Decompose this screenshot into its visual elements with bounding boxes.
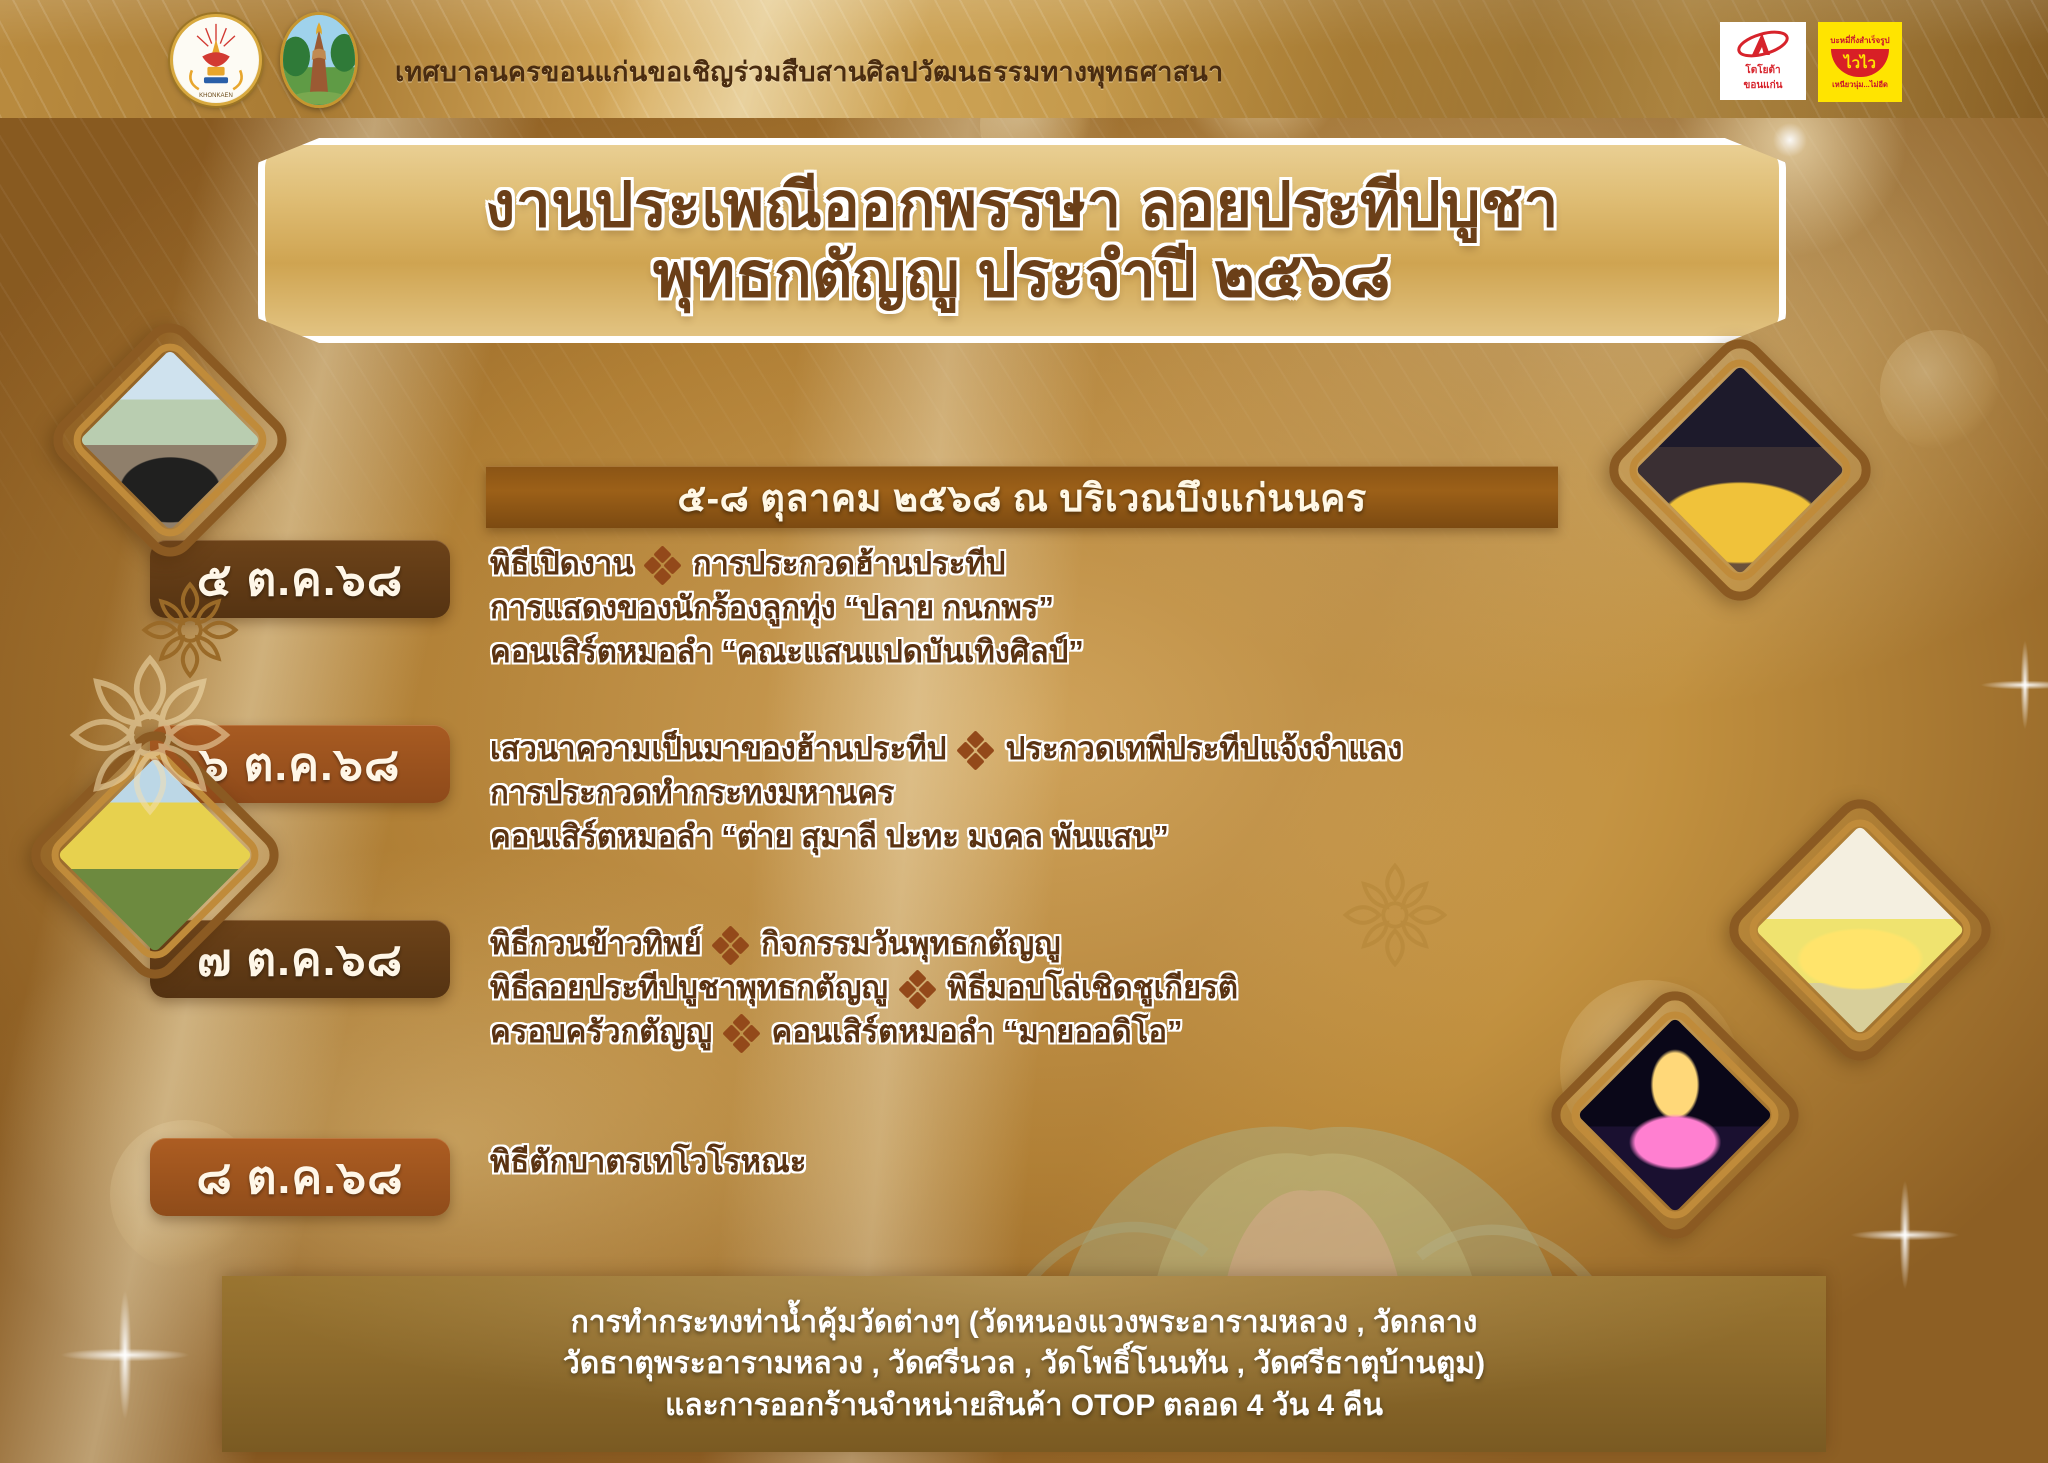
toyota-label-line2: ขอนแก่น: [1743, 78, 1782, 93]
photo-monk-parade: [60, 760, 250, 950]
event-line: ครอบครัวกตัญญู คอนเสิร์ตหมอลำ “มายออดิโอ…: [490, 1010, 1238, 1054]
event-line: พิธีลอยประทีปบูชาพุทธกตัญญู พิธีมอบโล่เช…: [490, 966, 1238, 1010]
event-text: คอนเสิร์ตหมอลำ “มายออดิโอ”: [771, 1014, 1182, 1049]
diamond-separator-icon: [955, 737, 997, 763]
waiwai-label-bottom: เหนียวนุ่ม...ไม่อืด: [1832, 79, 1888, 91]
bottom-info-banner: การทำกระทงท่าน้ำคุ้มวัดต่างๆ (วัดหนองแวง…: [222, 1276, 1826, 1452]
toyota-label-line1: โตโยต้า: [1745, 63, 1780, 78]
schedule-date-chip: ๘ ต.ค.๖๘: [150, 1138, 450, 1216]
event-text: พิธีกวนข้าวทิพย์: [490, 926, 702, 961]
event-text: การประกวดฮ้านประทีป: [693, 546, 1006, 581]
sponsor-logo-toyota: โตโยต้า ขอนแก่น: [1720, 22, 1806, 100]
diamond-separator-icon: [642, 552, 684, 578]
municipality-seal-icon: KHONKAEN: [170, 14, 262, 106]
schedule-events: เสวนาความเป็นมาของฮ้านประทีป ประกวดเทพีป…: [490, 725, 1402, 859]
bottom-banner-line1: การทำกระทงท่าน้ำคุ้มวัดต่างๆ (วัดหนองแวง…: [571, 1302, 1478, 1343]
diamond-separator-icon: [721, 1020, 763, 1046]
event-line: คอนเสิร์ตหมอลำ “คณะแสนแปดบันเทิงศิลป์”: [490, 630, 1084, 674]
event-line: การประกวดทำกระทงมหานคร: [490, 771, 1402, 815]
schedule-list: ๕ ต.ค.๖๘ พิธีเปิดงาน การประกวดฮ้านประทีป…: [150, 540, 1690, 1240]
province-seal-icon: [280, 12, 358, 108]
photo-lantern-float-display: [1760, 830, 1960, 1030]
event-text: ประกวดเทพีประทีปแจ้งจำแลง: [1006, 731, 1403, 766]
toyota-mark-icon: [1736, 29, 1790, 63]
sparkle: [1850, 1180, 1960, 1290]
schedule-row: ๖ ต.ค.๖๘ เสวนาความเป็นมาของฮ้านประทีป ปร…: [150, 725, 1402, 859]
festival-title-line1: งานประเพณีออกพรรษา ลอยประทีปบูชา: [265, 171, 1779, 240]
photo-lantern-stage-night: [1640, 370, 1840, 570]
date-location-text: ๕-๘ ตุลาคม ๒๕๖๘ ณ บริเวณบึงแก่นนคร: [677, 467, 1366, 528]
event-line: คอนเสิร์ตหมอลำ “ต่าย สุมาลี ปะทะ มงคล พั…: [490, 815, 1402, 859]
bottom-banner-line2: วัดธาตุพระอารามหลวง , วัดศรีนวล , วัดโพธ…: [563, 1343, 1485, 1384]
schedule-date-chip: ๕ ต.ค.๖๘: [150, 540, 450, 618]
bokeh-light: [1880, 330, 2000, 450]
event-line: พิธีตักบาตรเทโวโรหณะ: [490, 1140, 806, 1184]
event-text: ครอบครัวกตัญญู: [490, 1014, 712, 1049]
sparkle: [1980, 640, 2048, 730]
waiwai-label-top: บะหมี่กึ่งสำเร็จรูป: [1830, 34, 1889, 47]
event-line: พิธีกวนข้าวทิพย์ กิจกรรมวันพุทธกตัญญู: [490, 922, 1238, 966]
festival-title-line2: พุทธกตัญญู ประจำปี ๒๕๖๘: [265, 241, 1779, 310]
event-text: พิธีเปิดงาน: [490, 546, 634, 581]
diamond-separator-icon: [710, 932, 752, 958]
photo-illuminated-float-night: [1580, 1020, 1770, 1210]
event-text: พิธีลอยประทีปบูชาพุทธกตัญญู: [490, 970, 888, 1005]
event-line: พิธีเปิดงาน การประกวดฮ้านประทีป: [490, 542, 1084, 586]
bottom-banner-line3: และการออกร้านจำหน่ายสินค้า OTOP ตลอด 4 ว…: [665, 1385, 1383, 1426]
event-text: กิจกรรมวันพุทธกตัญญู: [761, 926, 1061, 961]
sparkle: [60, 1290, 190, 1420]
title-plaque: งานประเพณีออกพรรษา ลอยประทีปบูชา พุทธกตั…: [258, 138, 1786, 343]
waiwai-bowl-icon: ไวไว: [1831, 49, 1889, 77]
event-line: การแสดงของนักร้องลูกทุ่ง “ปลาย กนกพร”: [490, 586, 1084, 630]
schedule-row: ๕ ต.ค.๖๘ พิธีเปิดงาน การประกวดฮ้านประทีป…: [150, 540, 1084, 674]
schedule-events: พิธีกวนข้าวทิพย์ กิจกรรมวันพุทธกตัญญู พิ…: [490, 920, 1238, 1054]
photo-rice-stirring-ceremony: [80, 350, 260, 530]
schedule-events: พิธีตักบาตรเทโวโรหณะ: [490, 1138, 806, 1184]
schedule-row: ๘ ต.ค.๖๘ พิธีตักบาตรเทโวโรหณะ: [150, 1138, 806, 1216]
event-text: พิธีมอบโล่เชิดชูเกียรติ: [947, 970, 1238, 1005]
sponsor-logo-waiwai: บะหมี่กึ่งสำเร็จรูป ไวไว เหนียวนุ่ม...ไม…: [1818, 22, 1902, 102]
festival-poster: KHONKAEN เทศบาลนครขอนแก่นขอเชิญร่วมสืบสา…: [0, 0, 2048, 1463]
schedule-events: พิธีเปิดงาน การประกวดฮ้านประทีป การแสดงข…: [490, 540, 1084, 674]
svg-text:KHONKAEN: KHONKAEN: [199, 93, 233, 99]
date-location-banner: ๕-๘ ตุลาคม ๒๕๖๘ ณ บริเวณบึงแก่นนคร: [486, 466, 1558, 528]
invitation-headline: เทศบาลนครขอนแก่นขอเชิญร่วมสืบสานศิลปวัฒน…: [395, 50, 1528, 93]
schedule-row: ๗ ต.ค.๖๘ พิธีกวนข้าวทิพย์ กิจกรรมวันพุทธ…: [150, 920, 1238, 1054]
diamond-separator-icon: [897, 976, 939, 1002]
event-text: เสวนาความเป็นมาของฮ้านประทีป: [490, 731, 946, 766]
event-line: เสวนาความเป็นมาของฮ้านประทีป ประกวดเทพีป…: [490, 727, 1402, 771]
